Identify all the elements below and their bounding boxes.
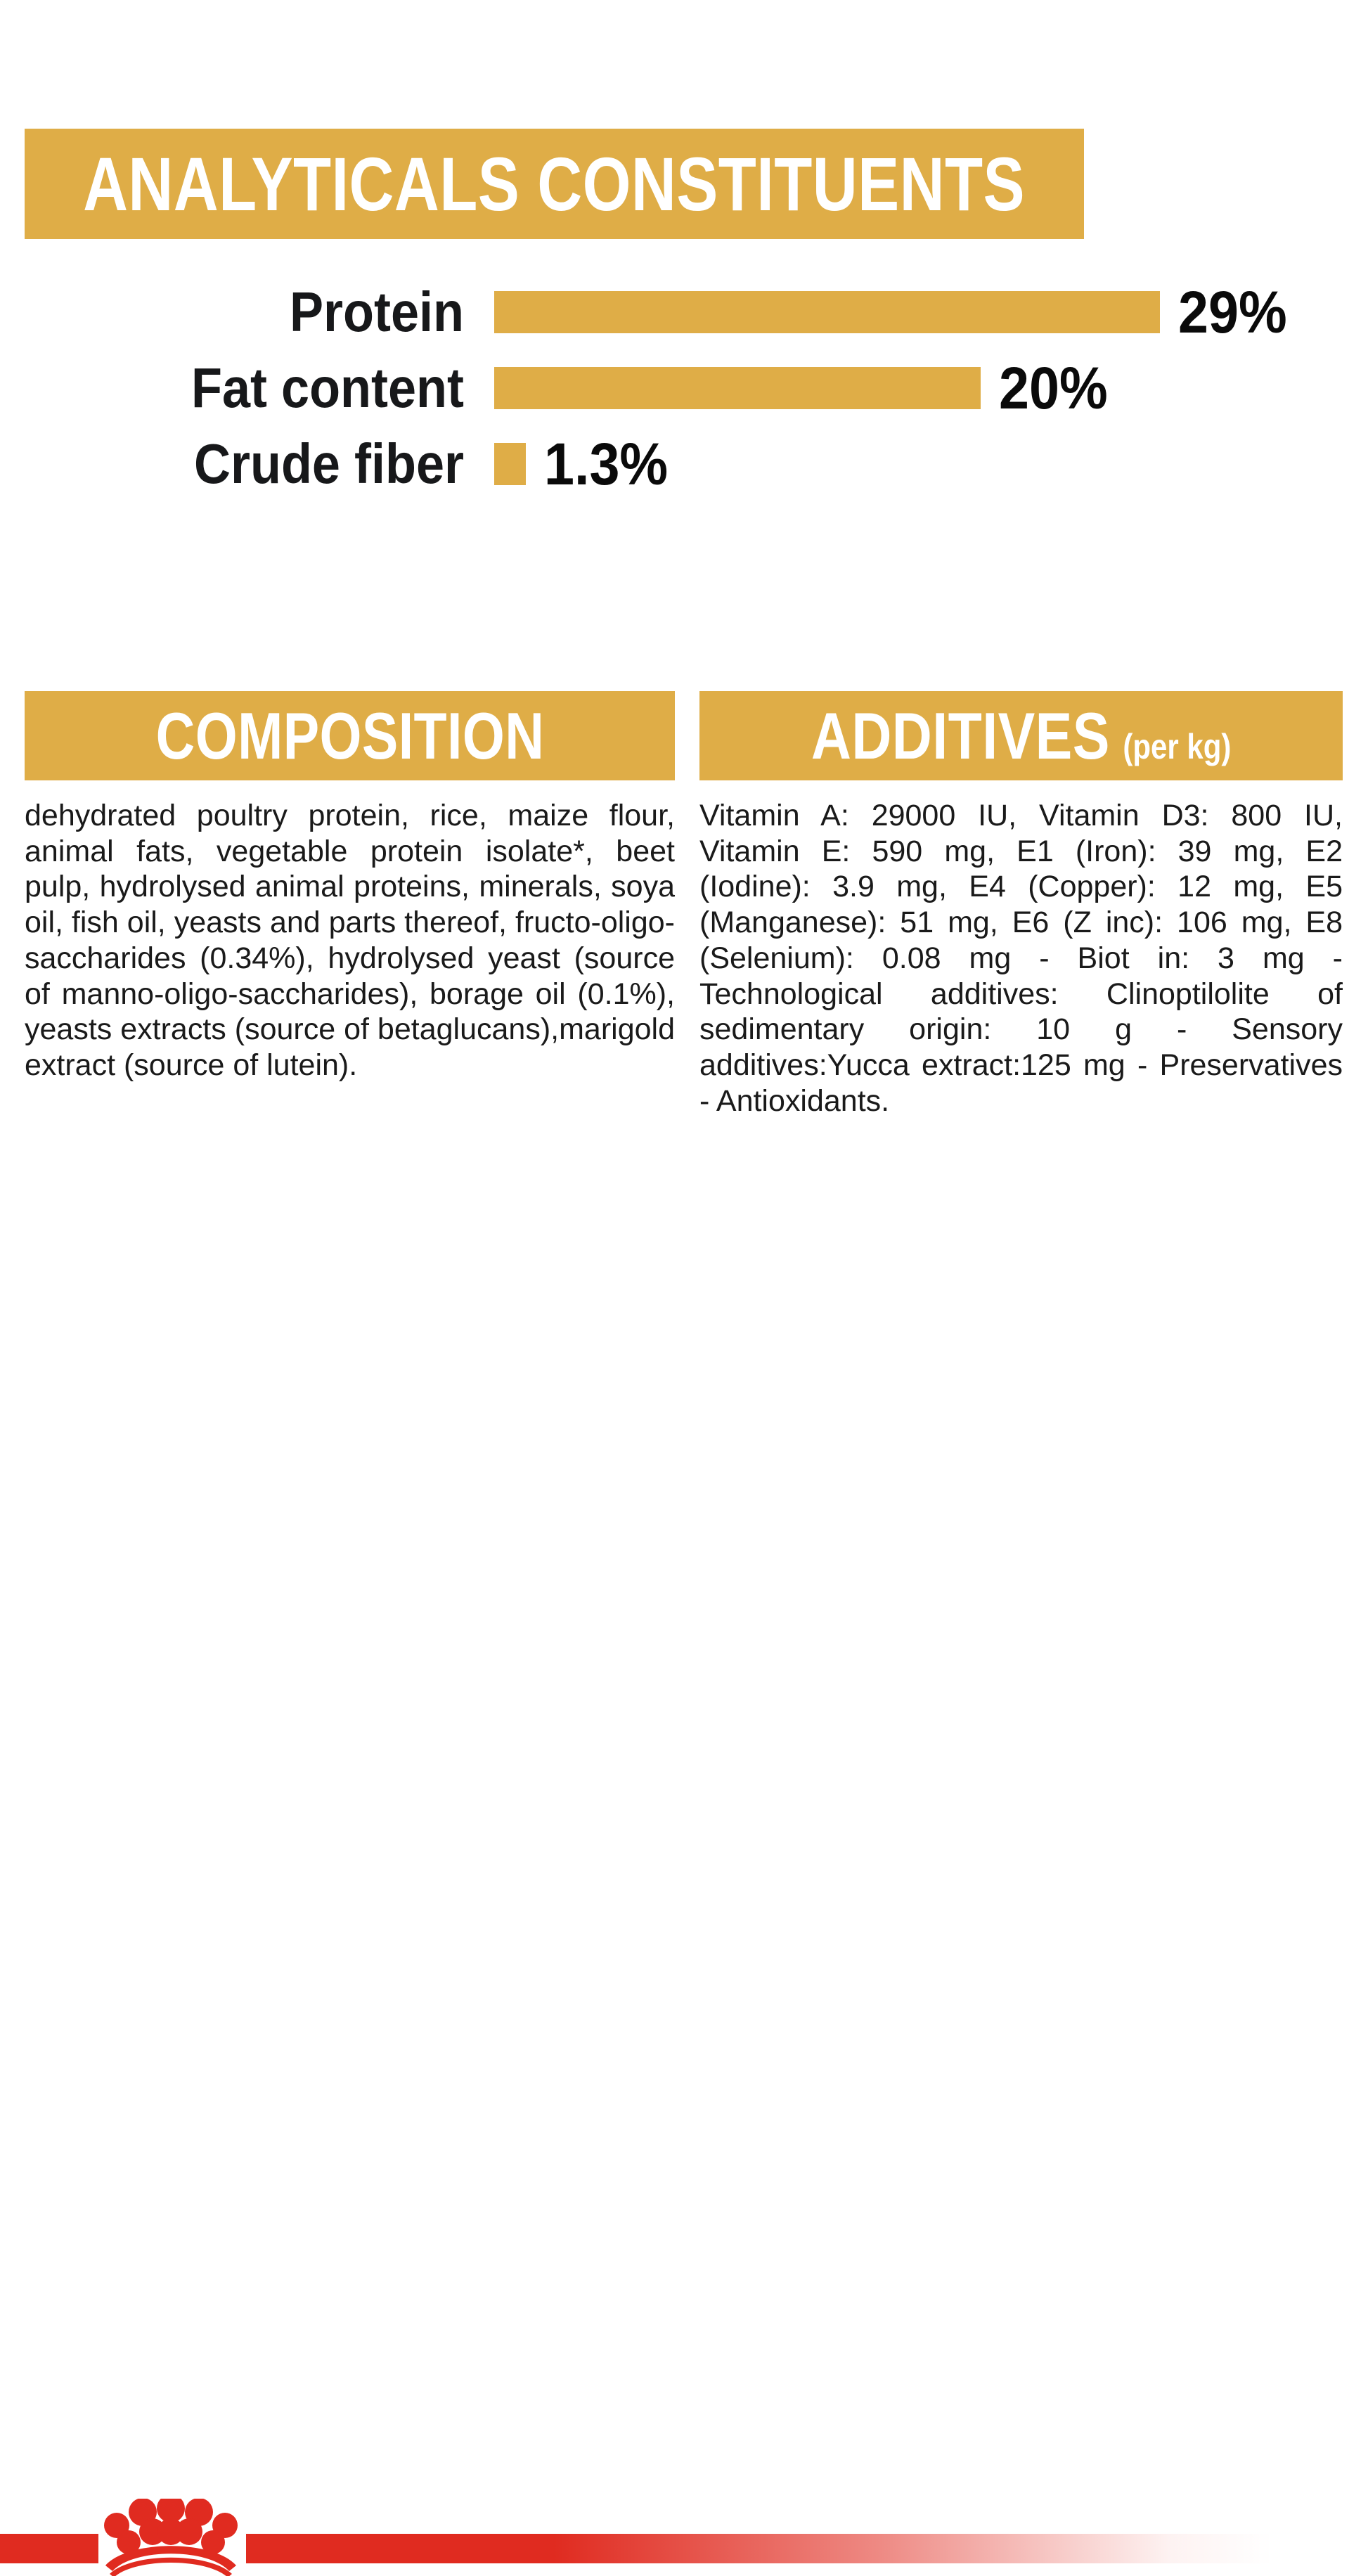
analytical-bar-wrap-fat-content: 20% xyxy=(494,350,1117,426)
royal-canin-crown-icon xyxy=(90,2499,252,2576)
analytical-row-protein: Protein 29% xyxy=(0,274,1368,350)
composition-header: COMPOSITION xyxy=(25,691,675,780)
analytical-label-protein: Protein xyxy=(46,284,464,340)
analytical-label-crude-fiber: Crude fiber xyxy=(46,436,464,492)
analytical-bar-protein xyxy=(494,291,1160,333)
analyticals-header-title: ANALYTICALS CONSTITUENTS xyxy=(84,129,1026,239)
analytical-value-protein: 29% xyxy=(1178,283,1287,342)
footer xyxy=(0,1253,1368,1368)
analytical-label-fat-content: Fat content xyxy=(46,360,464,416)
additives-body-text: Vitamin A: 29000 IU, Vitamin D3: 800 IU,… xyxy=(699,798,1343,1119)
composition-body-text: dehydrated poultry protein, rice, maize … xyxy=(25,798,675,1083)
analytical-row-fat-content: Fat content 20% xyxy=(0,350,1368,426)
analytical-value-fat-content: 20% xyxy=(999,359,1108,418)
analytical-bar-wrap-protein: 29% xyxy=(494,274,1296,350)
analyticals-chart: Protein 29% Fat content 20% Crude fiber … xyxy=(0,274,1368,502)
composition-header-title: COMPOSITION xyxy=(155,691,544,780)
additives-header-title: ADDITIVES xyxy=(811,698,1110,774)
additives-header-subtitle: (per kg) xyxy=(1123,726,1231,767)
analytical-value-crude-fiber: 1.3% xyxy=(544,434,668,494)
additives-header: ADDITIVES (per kg) xyxy=(699,691,1343,780)
additives-header-inner: ADDITIVES (per kg) xyxy=(811,698,1231,774)
footer-rule-right xyxy=(246,2534,1272,2563)
analytical-bar-fat-content xyxy=(494,367,981,409)
analytical-row-crude-fiber: Crude fiber 1.3% xyxy=(0,426,1368,502)
analyticals-constituents-header: ANALYTICALS CONSTITUENTS xyxy=(25,129,1084,239)
analytical-bar-wrap-crude-fiber: 1.3% xyxy=(494,426,678,502)
analytical-bar-crude-fiber xyxy=(494,443,526,485)
footer-rule-left xyxy=(0,2534,98,2563)
